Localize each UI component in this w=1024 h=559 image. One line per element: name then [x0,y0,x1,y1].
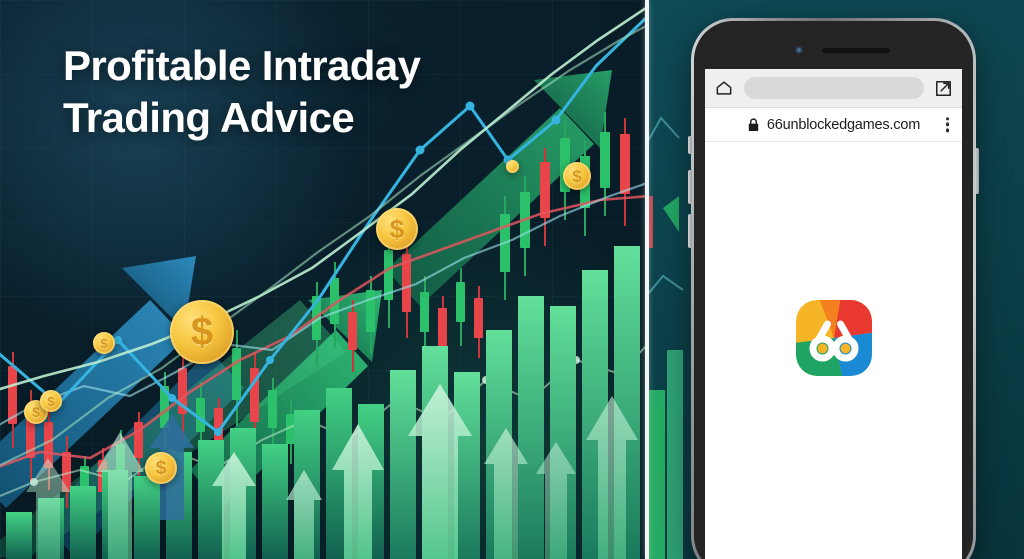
dollar-coin: $ [376,208,418,250]
browser-toolbar [705,69,962,108]
volume-up-button[interactable] [688,170,692,204]
title-line-2: Trading Advice [63,92,583,144]
dollar-coin: $ [93,332,115,354]
volume-down-button[interactable] [688,214,692,248]
open-in-new-icon[interactable] [934,79,953,98]
dollar-coin: $ [145,452,177,484]
phone-mockup-panel: 66unblockedgames.com [649,0,1024,559]
power-button[interactable] [975,148,979,194]
url-text: 66unblockedgames.com [767,117,920,133]
title-line-1: Profitable Intraday [63,40,583,92]
trading-chart-panel: $ $ $ $ $ $ $ Profitable [0,0,646,559]
front-camera-icon [795,46,803,54]
phone-screen: 66unblockedgames.com [705,69,962,559]
earpiece-speaker [822,48,890,53]
home-icon[interactable] [714,78,734,98]
panel-divider [645,0,649,559]
search-input[interactable] [744,77,924,99]
site-logo[interactable] [796,300,872,376]
kebab-menu-icon[interactable] [946,117,949,132]
phone-body: 66unblockedgames.com [694,21,973,559]
dollar-coin: $ [40,390,62,412]
dollar-coin: $ [563,162,591,190]
lock-icon [747,117,760,132]
promo-image: $ $ $ $ $ $ $ Profitable [0,0,1024,559]
page-title: Profitable Intraday Trading Advice [63,40,583,144]
silent-switch[interactable] [688,136,692,154]
logo-66-icon [796,300,872,376]
dollar-coin-small [506,160,519,173]
address-bar[interactable]: 66unblockedgames.com [705,108,962,142]
dollar-coin: $ [170,300,234,364]
web-page-content [705,142,962,559]
phone-device: 66unblockedgames.com [691,18,976,559]
